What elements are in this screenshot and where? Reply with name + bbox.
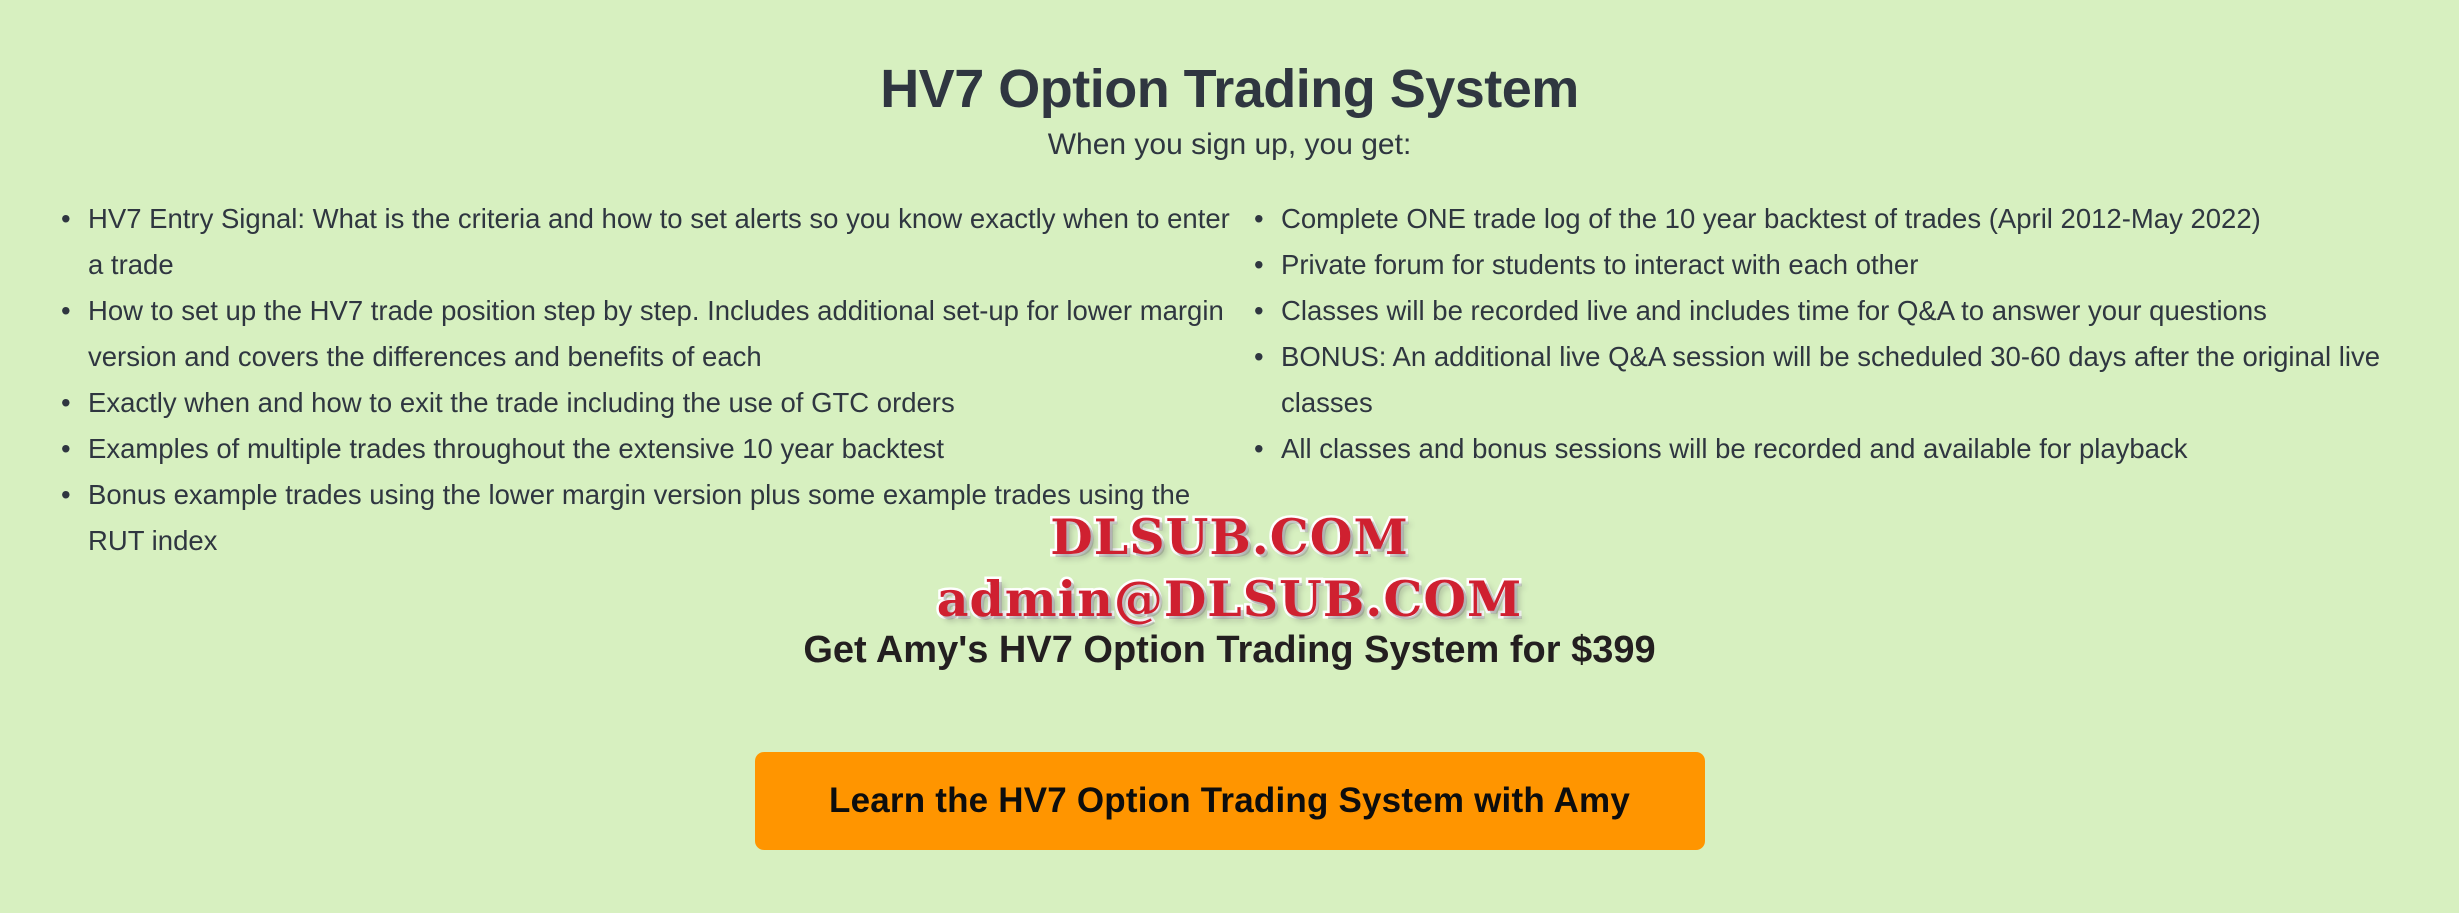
list-item: BONUS: An additional live Q&A session wi… xyxy=(1281,334,2459,426)
list-item: How to set up the HV7 trade position ste… xyxy=(88,288,1245,380)
watermark-email-text: admin@DLSUB.COM xyxy=(937,570,1523,628)
page-subtitle: When you sign up, you get: xyxy=(0,127,2459,163)
list-item: Complete ONE trade log of the 10 year ba… xyxy=(1281,196,2459,242)
list-item: Bonus example trades using the lower mar… xyxy=(88,472,1245,564)
list-item: Private forum for students to interact w… xyxy=(1281,242,2459,288)
price-heading: Get Amy's HV7 Option Trading System for … xyxy=(0,628,2459,674)
benefits-columns: HV7 Entry Signal: What is the criteria a… xyxy=(0,196,2459,564)
benefits-right-list: Complete ONE trade log of the 10 year ba… xyxy=(1245,196,2459,472)
benefits-left-list: HV7 Entry Signal: What is the criteria a… xyxy=(52,196,1245,564)
list-item: Classes will be recorded live and includ… xyxy=(1281,288,2459,334)
page-title: HV7 Option Trading System xyxy=(0,60,2459,119)
list-item: All classes and bonus sessions will be r… xyxy=(1281,426,2459,472)
benefits-left-column: HV7 Entry Signal: What is the criteria a… xyxy=(0,196,1245,564)
list-item: Exactly when and how to exit the trade i… xyxy=(88,380,1245,426)
list-item: Examples of multiple trades throughout t… xyxy=(88,426,1245,472)
learn-hv7-cta-button[interactable]: Learn the HV7 Option Trading System with… xyxy=(755,752,1705,850)
list-item: HV7 Entry Signal: What is the criteria a… xyxy=(88,196,1245,288)
watermark-email: admin@DLSUB.COM xyxy=(0,570,2459,628)
benefits-right-column: Complete ONE trade log of the 10 year ba… xyxy=(1245,196,2459,472)
cta-container: Learn the HV7 Option Trading System with… xyxy=(0,752,2459,850)
landing-page: HV7 Option Trading System When you sign … xyxy=(0,0,2459,913)
